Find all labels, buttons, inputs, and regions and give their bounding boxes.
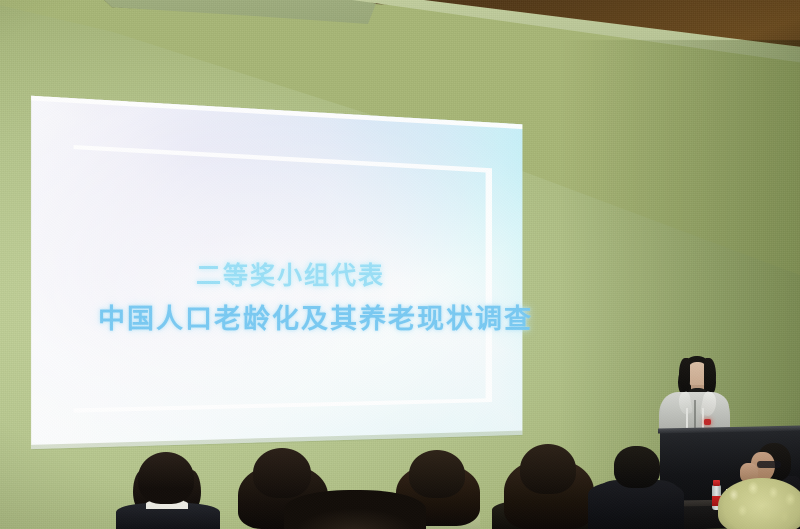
speaker-drawstring-right <box>702 408 704 428</box>
audience-member-6-head <box>614 446 660 488</box>
audience-member-6-body <box>588 482 684 529</box>
speaker-drawstring-left <box>686 408 688 430</box>
podium-indicator-light <box>704 419 711 425</box>
speaker-hair-left <box>679 358 690 392</box>
audience-member-4-head <box>520 444 576 494</box>
panel-member-right-glasses <box>757 461 781 468</box>
audience-member-7-fur-hood <box>718 478 800 529</box>
presentation-photo: 二等奖小组代表 中国人口老龄化及其养老现状调查 <box>0 0 800 529</box>
bottle-cap <box>713 480 720 486</box>
audience-member-3-head <box>409 450 465 498</box>
audience-member-2-head <box>253 448 311 498</box>
audience-member-1-head <box>138 452 194 504</box>
audience-member-5-head <box>284 490 426 529</box>
